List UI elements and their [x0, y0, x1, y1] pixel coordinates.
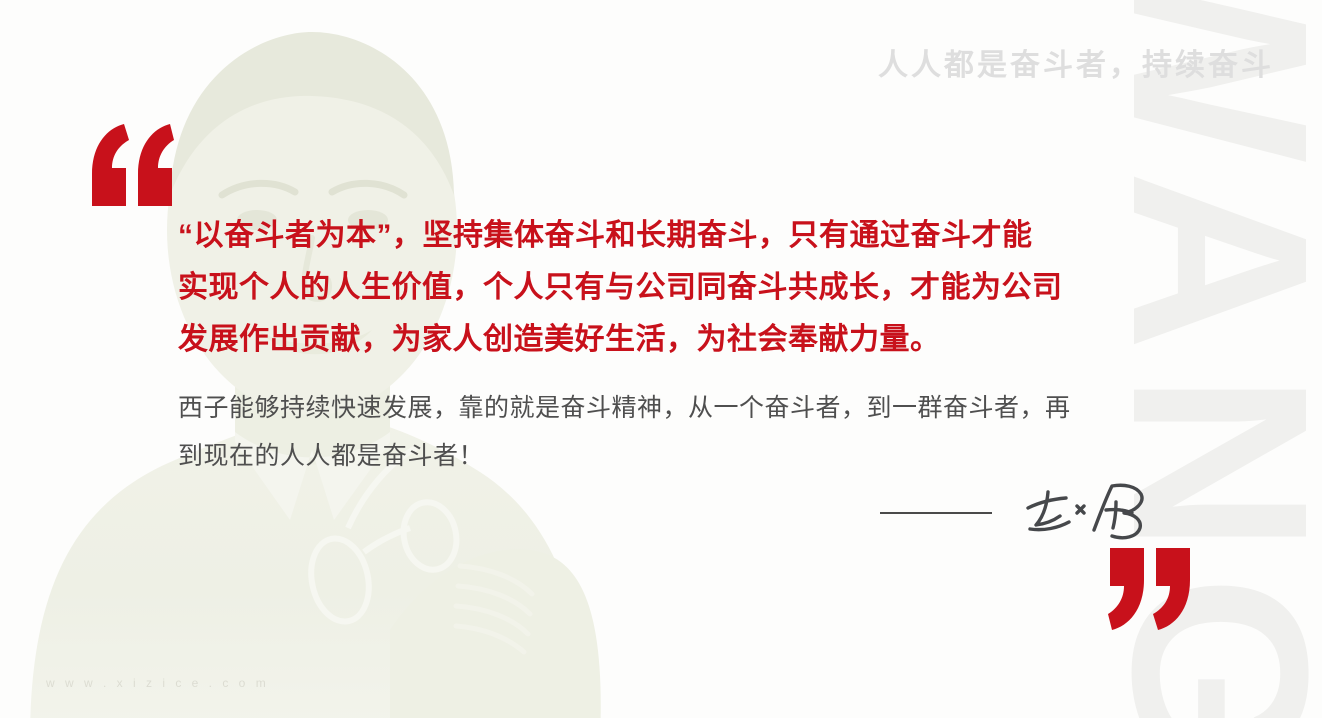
signature-rule	[880, 512, 992, 514]
footer-website-url: w w w . x i z i c e . c o m	[46, 676, 269, 690]
quote-red-line-3: 发展作出贡献，为家人创造美好生活，为社会奉献力量。	[178, 314, 1168, 366]
quote-red-line-1: “以奋斗者为本”，坚持集体奋斗和长期奋斗，只有通过奋斗才能	[178, 210, 1168, 262]
signature-block	[880, 478, 1180, 548]
quote-gray-line-1: 西子能够持续快速发展，靠的就是奋斗精神，从一个奋斗者，到一群奋斗者，再	[178, 384, 1168, 432]
quote-primary-text: “以奋斗者为本”，坚持集体奋斗和长期奋斗，只有通过奋斗才能 实现个人的人生价值，…	[178, 210, 1168, 366]
handwritten-signature-icon	[1020, 480, 1150, 546]
open-quote-mark-icon	[88, 124, 174, 206]
quote-slide: WANG 人人都是奋斗者，持续奋斗 “以奋斗者为本”，坚持集体奋斗和长期奋斗，只…	[0, 0, 1322, 718]
quote-content: “以奋斗者为本”，坚持集体奋斗和长期奋斗，只有通过奋斗才能 实现个人的人生价值，…	[178, 210, 1168, 480]
quote-gray-line-2: 到现在的人人都是奋斗者！	[178, 432, 1168, 480]
page-title: 人人都是奋斗者，持续奋斗	[878, 40, 1274, 84]
quote-secondary-text: 西子能够持续快速发展，靠的就是奋斗精神，从一个奋斗者，到一群奋斗者，再 到现在的…	[178, 384, 1168, 480]
close-quote-mark-icon	[1108, 548, 1194, 630]
quote-red-line-2: 实现个人的人生价值，个人只有与公司同奋斗共成长，才能为公司	[178, 262, 1168, 314]
